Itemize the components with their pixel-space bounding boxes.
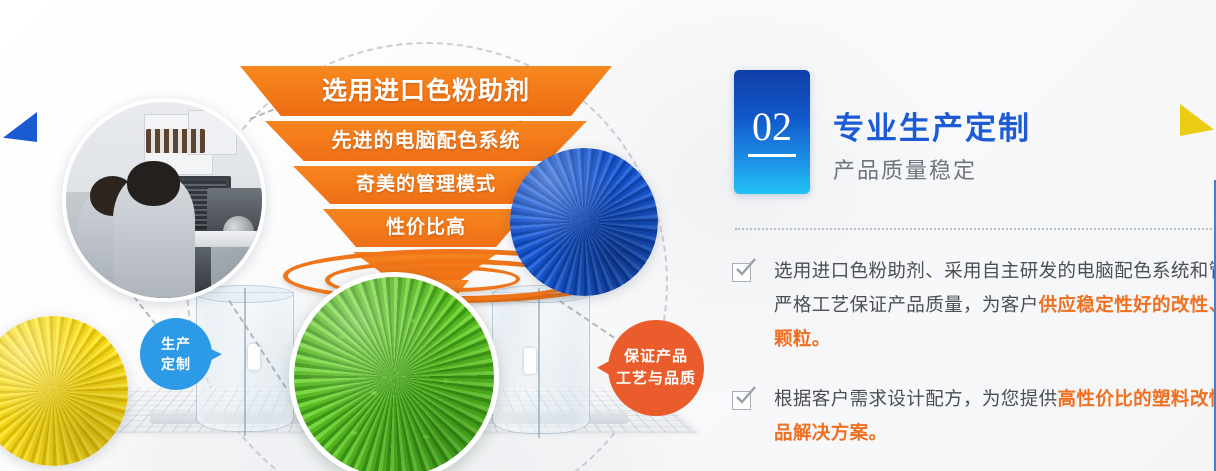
funnel-tier-2: 先进的电脑配色系统 [265, 121, 587, 161]
badge-production-custom-line-1: 生产 [161, 334, 191, 354]
funnel-tier-1: 选用进口色粉助剂 [240, 66, 612, 116]
list-item-text: 根据客户需求设计配方，为您提供高性价比的塑料改性、染色产 品解决方案。 [774, 382, 1216, 450]
checkbox-checked-icon [732, 263, 751, 282]
section-number: 02 [748, 107, 796, 157]
page-title: 专业生产定制 [833, 103, 1031, 148]
badge-quality-guarantee[interactable]: 保证产品 工艺与品质 [608, 320, 704, 416]
checkbox-checked-icon [732, 391, 751, 410]
badge-quality-guarantee-line-2: 工艺与品质 [616, 368, 696, 390]
glass-seam-left [244, 288, 246, 436]
bullet-2-line-2-highlight: 品解决方案。 [774, 422, 887, 443]
bullet-2-line-1-highlight: 高性价比的塑料改性、染色产 [1058, 388, 1216, 409]
blue-pigment-powder-photo [510, 148, 658, 296]
bullet-1-line-2-plain: 严格工艺保证产品质量，为客户 [774, 294, 1039, 315]
dotted-divider [735, 228, 1216, 230]
green-plastic-pellets-photo [289, 272, 499, 471]
content-panel: 02 专业生产定制 产品质量稳定 选用进口色粉助剂、采用自主研发的电脑配色系统和… [700, 0, 1216, 471]
bullet-1-line-3-highlight: 颗粒。 [774, 328, 831, 349]
bullet-1-line-2-highlight: 供应稳定性好的改性、染色塑料 [1039, 294, 1216, 315]
bullet-2-line-1-plain: 根据客户需求设计配方，为您提供 [774, 388, 1058, 409]
badge-quality-guarantee-line-1: 保证产品 [616, 346, 696, 368]
glass-handle-right [524, 348, 536, 374]
glass-seam-right [538, 288, 540, 438]
promo-banner: 选用进口色粉助剂 先进的电脑配色系统 奇美的管理模式 性价比高 生产 [0, 0, 1216, 471]
badge-production-custom-line-2: 定制 [161, 354, 191, 374]
badge-production-custom[interactable]: 生产 定制 [140, 318, 212, 390]
bullet-list: 选用进口色粉助剂、采用自主研发的电脑配色系统和管理模式， 严格工艺保证产品质量，… [726, 254, 1216, 471]
yellow-pigment-powder-photo [0, 316, 128, 466]
bullet-1-line-1-plain: 选用进口色粉助剂、采用自主研发的电脑配色系统和管理模式， [774, 260, 1216, 281]
blue-pigment-pointer [3, 112, 37, 142]
section-number-badge: 02 [734, 70, 810, 194]
lab-technicians-photo [62, 98, 266, 302]
list-item: 选用进口色粉助剂、采用自主研发的电脑配色系统和管理模式， 严格工艺保证产品质量，… [726, 254, 1216, 356]
page-subtitle: 产品质量稳定 [833, 153, 977, 185]
list-item: 根据客户需求设计配方，为您提供高性价比的塑料改性、染色产 品解决方案。 [726, 382, 1216, 450]
funnel-tier-4: 性价比高 [323, 209, 529, 247]
list-item-text: 选用进口色粉助剂、采用自主研发的电脑配色系统和管理模式， 严格工艺保证产品质量，… [774, 254, 1216, 356]
